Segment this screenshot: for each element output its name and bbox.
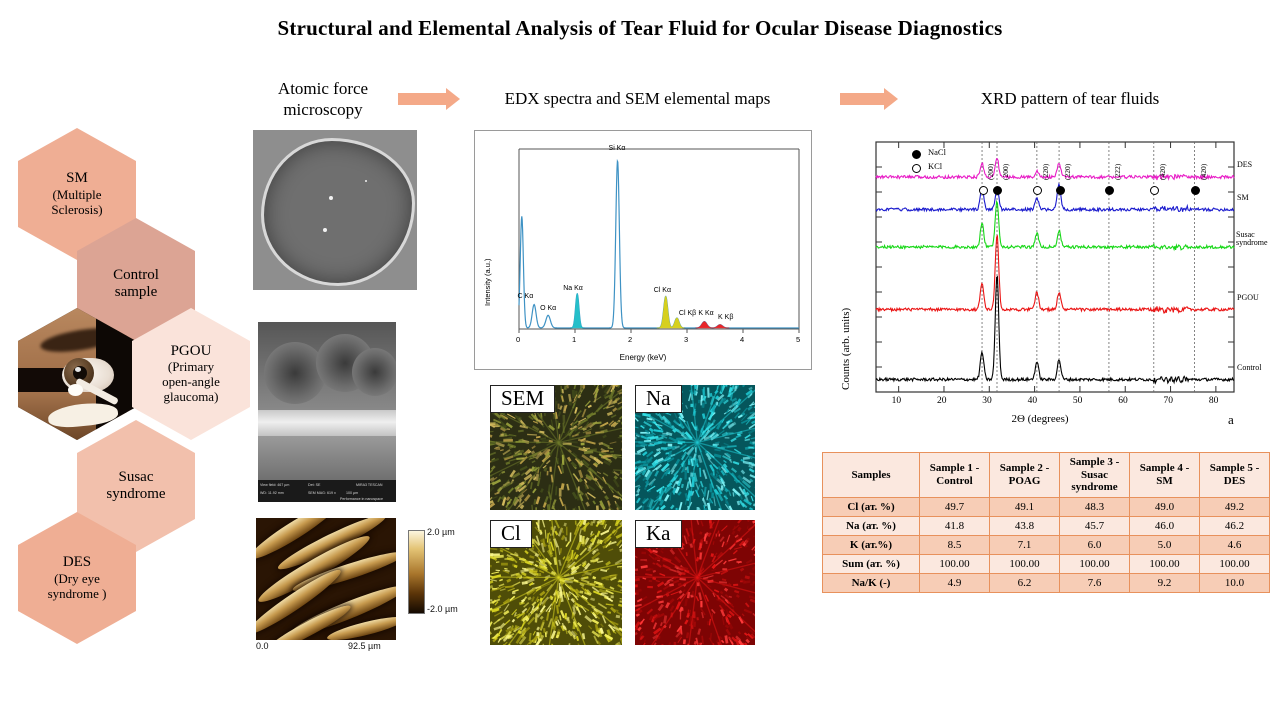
table-header-cell-1: Sample 1 -Control <box>920 453 990 498</box>
xrd-xtick: 40 <box>1028 396 1038 406</box>
xrd-xtick: 50 <box>1073 396 1083 406</box>
xrd-marker-nacl <box>1056 186 1065 195</box>
hexagon-pgou-title: PGOU <box>162 343 220 360</box>
edx-peak-label: K Kβ <box>718 314 733 321</box>
hexagon-susac-title: Susac <box>106 469 165 486</box>
afm-scale-max-label: 92.5 µm <box>348 641 381 651</box>
stage-afm-line1: Atomic force <box>258 78 388 99</box>
table-cell: 46.2 <box>1200 516 1270 535</box>
table-cell: 49.7 <box>920 497 990 516</box>
edx-peak-label: Cl Kα <box>654 287 671 294</box>
sem-info-wd: WD: 11.92 mm <box>260 491 284 495</box>
map-ka: Ka <box>635 520 755 645</box>
edx-peak-label: Cl Kβ <box>679 310 696 317</box>
xrd-x-axis-label: 2Θ (degrees) <box>860 413 1220 425</box>
sem-info-scalebar: 100 µm <box>346 491 358 495</box>
xrd-legend-label-kcl: KCl <box>928 161 942 171</box>
map-na-label: Na <box>635 385 682 413</box>
map-cl-label: Cl <box>490 520 532 548</box>
stage-afm-line2: microscopy <box>258 99 388 120</box>
xrd-hkl-label: (220) <box>1063 164 1072 180</box>
xrd-hkl-label: (200) <box>986 164 995 180</box>
table-row-label: K (ат.%) <box>823 535 920 554</box>
xrd-trace-label-sm: SM <box>1237 194 1249 202</box>
table-cell: 100.00 <box>1130 554 1200 573</box>
table-row: K (ат.%)8.57.16.05.04.6 <box>823 535 1270 554</box>
edx-peak-label: K Kα <box>698 310 713 317</box>
map-ka-label: Ka <box>635 520 682 548</box>
table-cell: 49.0 <box>1130 497 1200 516</box>
edx-xtick: 5 <box>796 335 800 344</box>
xrd-hkl-label: (220) <box>1041 164 1050 180</box>
edx-xtick: 2 <box>628 335 632 344</box>
table-cell: 100.00 <box>990 554 1060 573</box>
hexagon-pgou-sub2: open-angle <box>162 375 220 390</box>
edx-spectrum-chart: Intensity (a.u.) Energy (keV) 012345C Kα… <box>474 130 812 370</box>
table-cell: 41.8 <box>920 516 990 535</box>
xrd-chart: Counts (arb. units) 2Θ (degrees) a 10203… <box>830 128 1250 433</box>
xrd-legend-label-nacl: NaCl <box>928 147 946 157</box>
table-row: Sum (ат. %)100.00100.00100.00100.00100.0… <box>823 554 1270 573</box>
table-cell: 10.0 <box>1200 573 1270 592</box>
stage-label-xrd: XRD pattern of tear fluids <box>920 88 1220 109</box>
table-row: Na (ат. %)41.843.845.746.046.2 <box>823 516 1270 535</box>
arrow-afm-to-edx <box>398 88 460 110</box>
table-cell: 43.8 <box>990 516 1060 535</box>
afm-colorbar <box>408 530 425 614</box>
table-header-cell-3: Sample 3 -Susacsyndrome <box>1060 453 1130 498</box>
map-sem-label: SEM <box>490 385 555 413</box>
table-header-cell-2: Sample 2 -POAG <box>990 453 1060 498</box>
sem-micrograph-image: View field: 467 µm Det: SE MIRA3 TESCAN … <box>258 322 396 502</box>
table-header-cell-0: Samples <box>823 453 920 498</box>
sem-droplet-image <box>253 130 417 290</box>
sem-info-tagline: Performance in nanospace <box>340 497 383 501</box>
xrd-legend-marker-nacl <box>912 150 921 159</box>
table-row: Na/K (-)4.96.27.69.210.0 <box>823 573 1270 592</box>
page-title: Structural and Elemental Analysis of Tea… <box>0 16 1280 41</box>
afm-scale-min-label: 0.0 <box>256 641 269 651</box>
table-cell: 46.0 <box>1130 516 1200 535</box>
xrd-trace-label-des: DES <box>1237 161 1252 169</box>
xrd-hkl-label: (420) <box>1199 164 1208 180</box>
map-na: Na <box>635 385 755 510</box>
table-cell: 9.2 <box>1130 573 1200 592</box>
xrd-hkl-label: (200) <box>1001 164 1010 180</box>
xrd-xtick: 10 <box>892 396 902 406</box>
edx-peak-label: Si Kα <box>609 145 626 152</box>
map-sem: SEM <box>490 385 622 510</box>
table-row-label: Na (ат. %) <box>823 516 920 535</box>
edx-plot-area <box>475 131 811 369</box>
xrd-legend-marker-kcl <box>912 164 921 173</box>
afm-colorbar-min-label: -2.0 µm <box>427 604 458 614</box>
xrd-hkl-label: (222) <box>1113 164 1122 180</box>
hexagon-des-sub1: (Dry eye <box>48 572 107 587</box>
afm-colorbar-max-label: 2.0 µm <box>427 527 455 537</box>
sem-infobar: View field: 467 µm Det: SE MIRA3 TESCAN … <box>258 480 396 502</box>
xrd-panel-letter: a <box>1228 412 1234 428</box>
table-cell: 7.1 <box>990 535 1060 554</box>
table-row: Cl (ат. %)49.749.148.349.049.2 <box>823 497 1270 516</box>
xrd-xtick: 60 <box>1118 396 1128 406</box>
afm-image <box>256 518 396 640</box>
edx-xtick: 0 <box>516 335 520 344</box>
hexagon-sm-title: SM <box>51 170 102 187</box>
hexagon-des-sub2: syndrome ) <box>48 587 107 602</box>
xrd-marker-nacl <box>1191 186 1200 195</box>
hexagon-pgou-sub3: glaucoma) <box>162 390 220 405</box>
hexagon-susac-sub1: syndrome <box>106 486 165 503</box>
map-cl: Cl <box>490 520 622 645</box>
xrd-xtick: 70 <box>1164 396 1174 406</box>
edx-xtick: 1 <box>572 335 576 344</box>
arrow-edx-to-xrd <box>840 88 898 110</box>
table-row-label: Na/K (-) <box>823 573 920 592</box>
table-cell: 5.0 <box>1130 535 1200 554</box>
composition-table: SamplesSample 1 -ControlSample 2 -POAGSa… <box>822 452 1270 593</box>
table-cell: 7.6 <box>1060 573 1130 592</box>
hexagon-control-sub1: sample <box>113 284 159 301</box>
xrd-xtick: 30 <box>982 396 992 406</box>
table-cell: 8.5 <box>920 535 990 554</box>
hexagon-pgou-sub1: (Primary <box>162 360 220 375</box>
table-cell: 100.00 <box>1200 554 1270 573</box>
xrd-trace-label-control: Control <box>1237 364 1261 372</box>
table-cell: 48.3 <box>1060 497 1130 516</box>
xrd-marker-kcl <box>979 186 988 195</box>
table-cell: 4.9 <box>920 573 990 592</box>
xrd-trace-label-pgou: PGOU <box>1237 294 1259 302</box>
table-cell: 6.0 <box>1060 535 1130 554</box>
table-row-label: Sum (ат. %) <box>823 554 920 573</box>
table-cell: 49.1 <box>990 497 1060 516</box>
table-cell: 4.6 <box>1200 535 1270 554</box>
sem-info-det: Det: SE <box>308 483 320 487</box>
table-cell: 100.00 <box>1060 554 1130 573</box>
table-cell: 49.2 <box>1200 497 1270 516</box>
hexagon-control-title: Control <box>113 267 159 284</box>
table-header-row: SamplesSample 1 -ControlSample 2 -POAGSa… <box>823 453 1270 498</box>
sem-info-viewfield: View field: 467 µm <box>260 483 289 487</box>
edx-peak-label: O Kα <box>540 305 556 312</box>
xrd-xtick: 80 <box>1209 396 1219 406</box>
edx-xtick: 3 <box>684 335 688 344</box>
table-header-cell-4: Sample 4 -SM <box>1130 453 1200 498</box>
edx-peak-label: C Kα <box>518 293 534 300</box>
xrd-hkl-label: (420) <box>1158 164 1167 180</box>
table-row-label: Cl (ат. %) <box>823 497 920 516</box>
table-cell: 45.7 <box>1060 516 1130 535</box>
hexagon-sm-sub2: Sclerosis) <box>51 203 102 218</box>
table-cell: 6.2 <box>990 573 1060 592</box>
table-header-cell-5: Sample 5 -DES <box>1200 453 1270 498</box>
xrd-plot-area <box>830 128 1250 433</box>
sem-info-mag: SEM MAG: 619 x <box>308 491 336 495</box>
table-cell: 100.00 <box>920 554 990 573</box>
xrd-trace-label-susac: Susacsyndrome <box>1236 231 1268 248</box>
edx-x-axis-label: Energy (keV) <box>475 353 811 362</box>
edx-xtick: 4 <box>740 335 744 344</box>
edx-peak-label: Na Kα <box>563 285 583 292</box>
hexagon-sm-sub1: (Multiple <box>51 188 102 203</box>
xrd-xtick: 20 <box>937 396 947 406</box>
stage-label-afm: Atomic force microscopy <box>258 78 388 121</box>
stage-label-edx: EDX spectra and SEM elemental maps <box>465 88 810 109</box>
hexagon-des-title: DES <box>48 554 107 571</box>
sem-info-instrument: MIRA3 TESCAN <box>356 483 383 487</box>
